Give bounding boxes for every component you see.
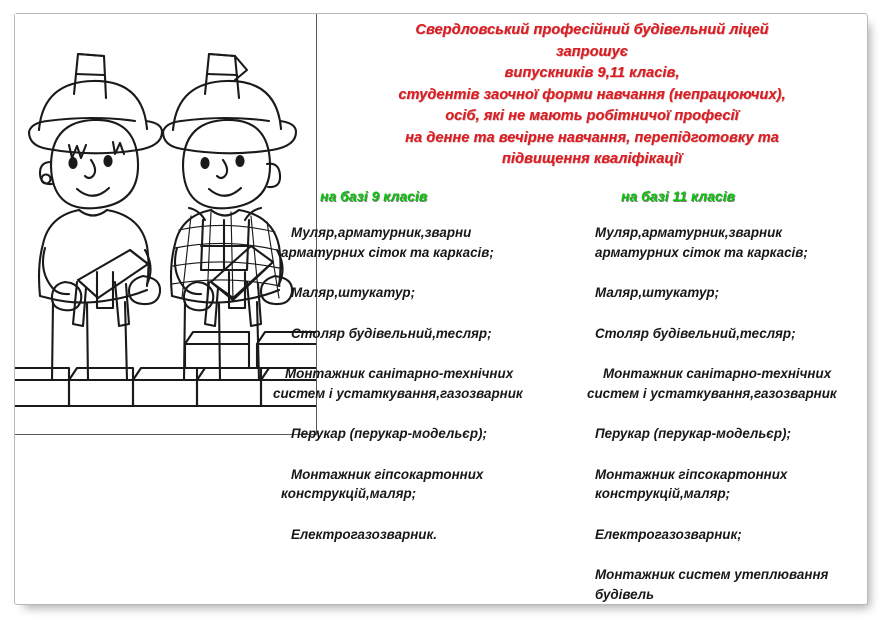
column-heading-grade11: на базі 11 класів xyxy=(621,188,735,204)
list-item: Столяр будівельний,тесляр; xyxy=(273,324,573,344)
list-item: Монтажник систем утеплювання будівель xyxy=(587,565,877,604)
profession-line: Муляр,арматурник,зварни xyxy=(273,223,573,243)
profession-line: Монтажник гіпсокартонних xyxy=(273,465,573,485)
profession-line: Монтажник санітарно-технічних xyxy=(273,364,573,384)
list-item: Муляр,арматурник,зварни арматурних сіток… xyxy=(273,223,573,262)
profession-line: систем і устаткування,газозварник xyxy=(587,384,877,404)
poster-card: Свердловський професійний будівельний лі… xyxy=(14,13,868,605)
profession-line: Столяр будівельний,тесляр; xyxy=(587,324,877,344)
column-heading-grade9: на базі 9 класів xyxy=(320,188,427,204)
list-item: Монтажник гіпсокартонних конструкцій,мал… xyxy=(587,465,877,504)
profession-line: Столяр будівельний,тесляр; xyxy=(273,324,573,344)
profession-line: арматурних сіток та каркасів; xyxy=(273,243,573,263)
invitation-line-6: на денне та вечірне навчання, перепідгот… xyxy=(317,128,867,150)
profession-line: арматурних сіток та каркасів; xyxy=(587,243,877,263)
invitation-line-3: випускників 9,11 класів, xyxy=(317,63,867,85)
profession-line: конструкцій,маляр; xyxy=(587,484,877,504)
list-item: Маляр,штукатур; xyxy=(273,283,573,303)
profession-line: конструкцій,маляр; xyxy=(273,484,573,504)
profession-line: Маляр,штукатур; xyxy=(273,283,573,303)
profession-line: Перукар (перукар-модельєр); xyxy=(273,424,573,444)
bricklayers-illustration xyxy=(15,14,317,435)
list-item: Електрогазозварник; xyxy=(587,525,877,545)
list-item: Перукар (перукар-модельєр); xyxy=(273,424,573,444)
list-item: Маляр,штукатур; xyxy=(587,283,877,303)
profession-line: Монтажник санітарно-технічних xyxy=(587,364,877,384)
profession-line: Монтажник гіпсокартонних xyxy=(587,465,877,485)
invitation-line-4: студентів заочної форми навчання (непрац… xyxy=(317,85,867,107)
profession-line: Муляр,арматурник,зварник xyxy=(587,223,877,243)
invitation-line-1: Свердловський професійний будівельний лі… xyxy=(317,20,867,42)
profession-line: будівель xyxy=(587,585,877,605)
list-item: Монтажник санітарно-технічних систем і у… xyxy=(587,364,877,403)
poster-screenshot: Свердловський професійний будівельний лі… xyxy=(0,0,880,617)
profession-line: Маляр,штукатур; xyxy=(587,283,877,303)
profession-line: систем і устаткування,газозварник xyxy=(273,384,573,404)
profession-line: Перукар (перукар-модельєр); xyxy=(587,424,877,444)
profession-line: Монтажник систем утеплювання xyxy=(587,565,877,585)
invitation-line-5: осіб, які не мають робітничої професії xyxy=(317,106,867,128)
invitation-line-2: запрошує xyxy=(317,42,867,64)
list-item: Монтажник гіпсокартонних конструкцій,мал… xyxy=(273,465,573,504)
invitation-text: Свердловський професійний будівельний лі… xyxy=(317,20,867,171)
list-item: Столяр будівельний,тесляр; xyxy=(587,324,877,344)
profession-list-grade9: Муляр,арматурник,зварни арматурних сіток… xyxy=(273,223,573,565)
list-item: Монтажник санітарно-технічних систем і у… xyxy=(273,364,573,403)
invitation-line-7: підвищення кваліфікації xyxy=(317,149,867,171)
profession-list-grade11: Муляр,арматурник,зварник арматурних сіто… xyxy=(587,223,877,617)
profession-line: Електрогазозварник. xyxy=(273,525,573,545)
list-item: Перукар (перукар-модельєр); xyxy=(587,424,877,444)
list-item: Електрогазозварник. xyxy=(273,525,573,545)
list-item: Муляр,арматурник,зварник арматурних сіто… xyxy=(587,223,877,262)
profession-line: Електрогазозварник; xyxy=(587,525,877,545)
illustration-panel xyxy=(15,14,317,435)
